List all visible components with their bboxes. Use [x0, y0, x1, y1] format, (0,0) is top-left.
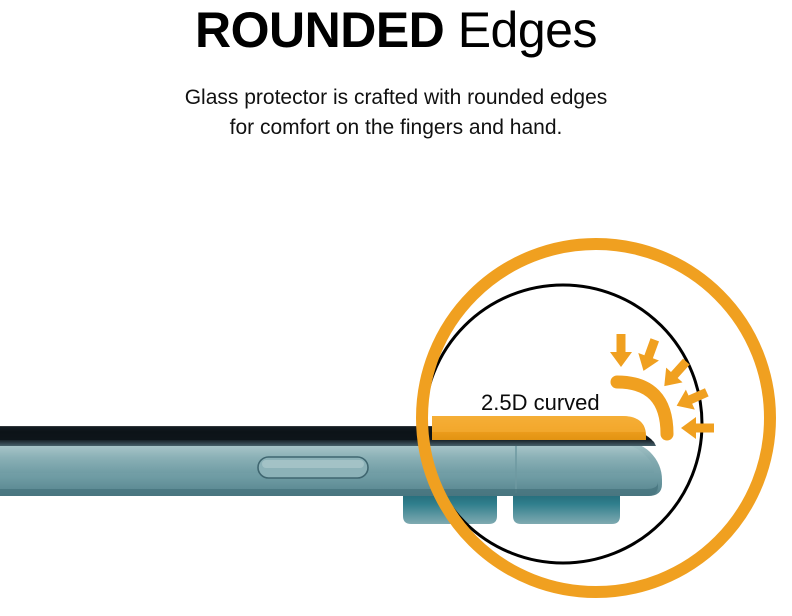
glass-protector-sheen — [432, 416, 645, 432]
orange-glass-layer — [432, 416, 646, 440]
phone-side-profile — [0, 426, 662, 524]
volume-button[interactable] — [258, 457, 368, 478]
product-illustration — [0, 0, 792, 616]
product-feature-image: ROUNDED Edges Glass protector is crafted… — [0, 0, 792, 616]
pressure-arrow-3 — [656, 354, 694, 393]
pressure-arrow-1 — [610, 334, 632, 367]
callout-label: 2.5D curved — [481, 390, 600, 416]
volume-button-highlight — [262, 460, 364, 468]
pressure-arrow-4 — [672, 382, 711, 416]
pressure-arrow-5 — [681, 417, 714, 439]
pressure-arrow-2 — [633, 336, 665, 375]
